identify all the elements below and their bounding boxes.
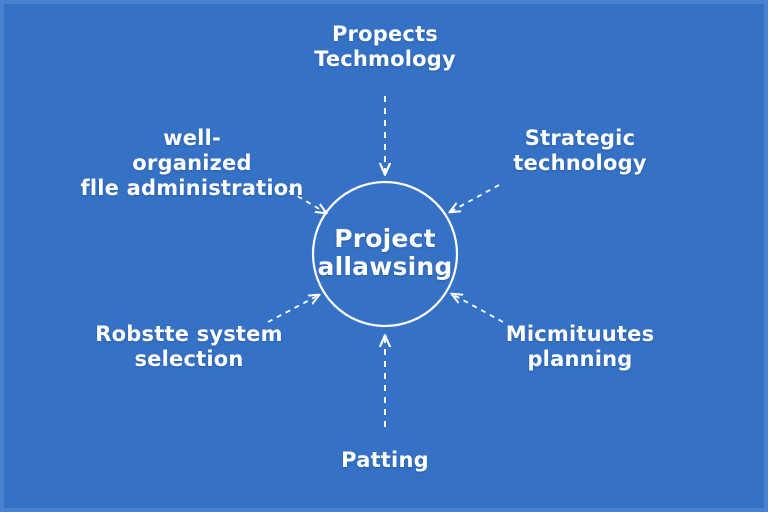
node-label-upper-left: well- organized flle administration — [78, 126, 306, 200]
center-node-label: Project allawsing — [295, 225, 475, 281]
connector-lower-right — [452, 294, 503, 322]
diagram-canvas: Project allawsing Propects Techmology we… — [0, 0, 768, 512]
node-label-lower-left: Robstte system selection — [93, 322, 285, 372]
node-label-bottom: Patting — [305, 448, 465, 473]
connector-lower-left — [268, 295, 319, 322]
node-label-top: Propects Techmology — [275, 22, 495, 72]
node-label-upper-right: Strategic technology — [495, 126, 665, 176]
node-label-lower-right: Micmituutes planning — [495, 322, 665, 372]
connector-upper-right — [450, 185, 499, 212]
